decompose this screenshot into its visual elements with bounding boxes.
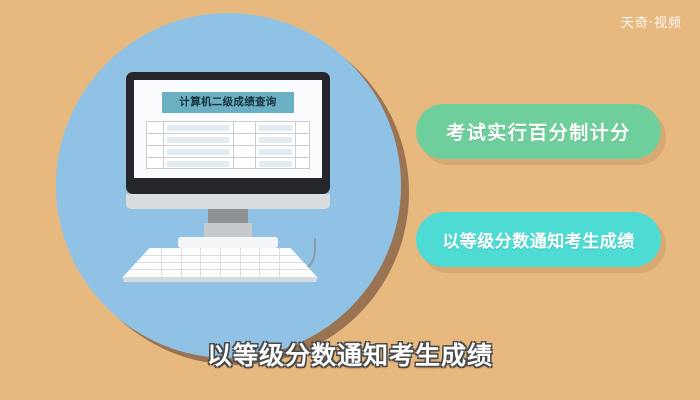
keyboard-key-line [240,248,241,278]
keyboard-edge [122,277,318,282]
table-cell-placeholder [167,137,229,143]
table-cell-placeholder [167,125,229,131]
screen-header-title: 计算机二级成绩查询 [162,92,294,113]
keyboard-illustration [122,248,318,284]
monitor-screen: 计算机二级成绩查询 [134,80,322,178]
callout-pill-label: 以等级分数通知考生成绩 [442,227,635,252]
keyboard-key-line [200,248,201,278]
video-subtitle: 以等级分数通知考生成绩 [0,336,700,372]
table-cell-placeholder [259,149,292,155]
table-cell-placeholder [259,125,292,131]
callout-pill-scoring: 考试实行百分制计分 [416,104,661,159]
table-hline [147,157,309,158]
video-frame: 天奇·视频 计算机二级成绩查询 [0,0,700,400]
screen-results-table [146,121,310,169]
keyboard-key-line [259,248,260,278]
table-cell-placeholder [167,149,229,155]
table-cell-placeholder [259,137,292,143]
channel-watermark: 天奇·视频 [621,12,682,31]
monitor-stand-neck [208,209,248,223]
table-hline [147,145,309,146]
keyboard-key-line [220,248,221,278]
keyboard-key-line [161,248,162,278]
callout-pill-grade-notice: 以等级分数通知考生成绩 [416,212,661,267]
monitor-illustration: 计算机二级成绩查询 [126,72,330,202]
screen-header-bar: 计算机二级成绩查询 [162,92,294,113]
callout-pill-label: 考试实行百分制计分 [446,118,631,145]
monitor-stand-taper [204,223,252,237]
table-cell-placeholder [167,161,229,167]
table-hline [147,133,309,134]
keyboard-key-line [279,248,280,278]
monitor-chin [126,194,330,209]
keyboard-body [122,248,318,278]
keyboard-key-line [181,248,182,278]
table-cell-placeholder [259,161,292,167]
